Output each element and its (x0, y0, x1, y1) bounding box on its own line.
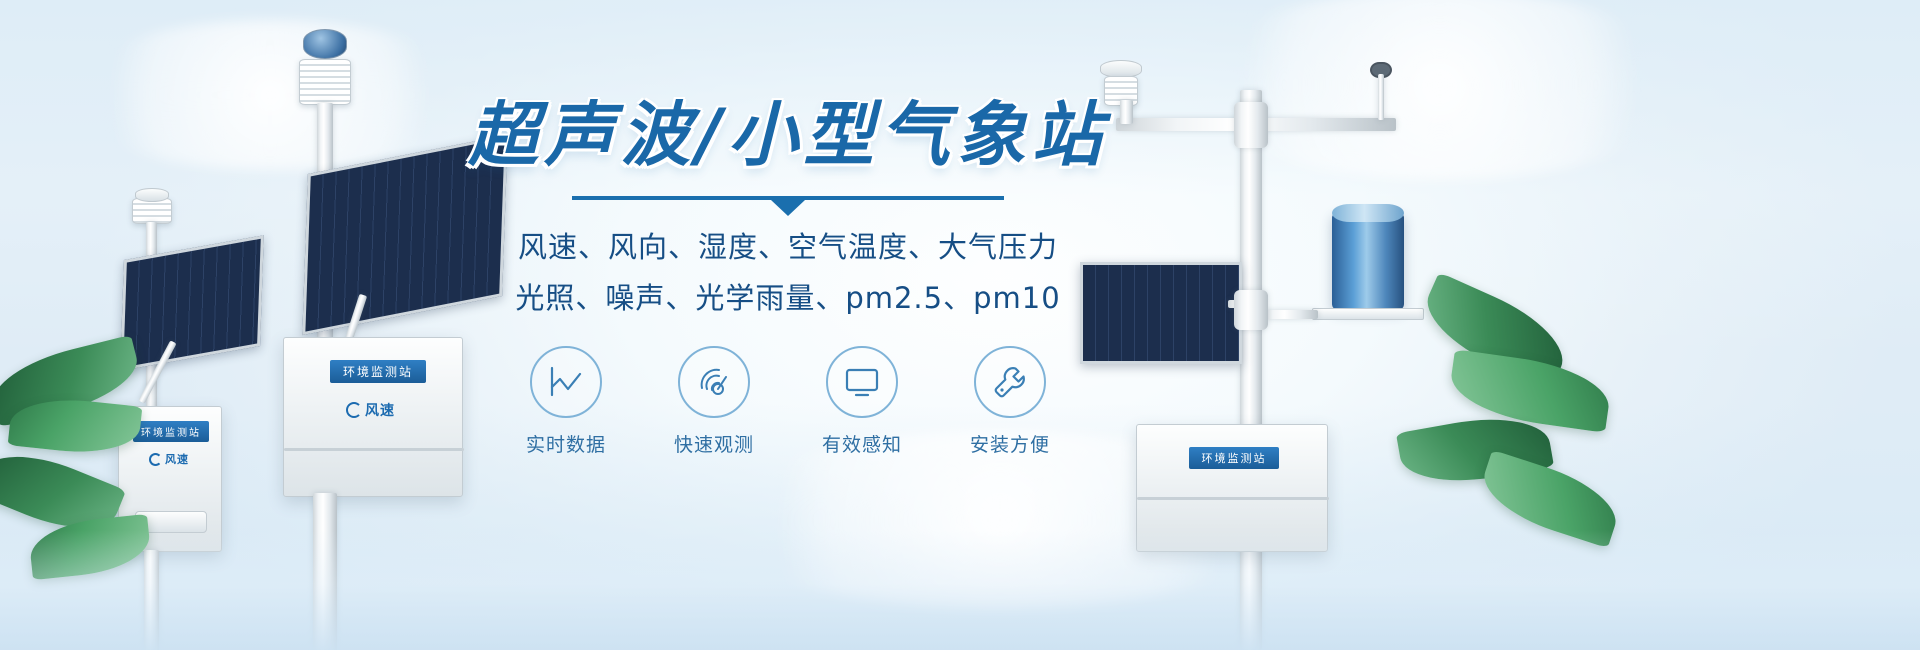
solar-panel (120, 235, 264, 371)
feature-label: 安装方便 (958, 430, 1062, 457)
sensor-disc-icon (135, 188, 169, 202)
rain-gauge-bracket (1260, 310, 1318, 319)
feature-item-fast-observation[interactable]: 快速观测 (662, 346, 766, 457)
brand-logo-left: 风速 (149, 451, 189, 467)
feature-label: 实时数据 (514, 430, 618, 457)
down-triangle-icon (771, 200, 805, 216)
monitor-screen-icon (843, 366, 881, 398)
enclosure-cabinet-mid: 环境监测站 风速 (283, 337, 463, 497)
banner-stage: 环境监测站 风速 环境监测站 风速 (0, 0, 1920, 650)
station-label-mid: 环境监测站 (330, 360, 426, 383)
mast-pole-right (1240, 90, 1262, 650)
feature-circle (678, 346, 750, 418)
feature-label: 快速观测 (662, 430, 766, 457)
feature-item-realtime-data[interactable]: 实时数据 (514, 346, 618, 457)
brand-ring-icon (346, 402, 362, 418)
feature-item-effective-sensing[interactable]: 有效感知 (810, 346, 914, 457)
base-pole-mid (313, 493, 337, 650)
station-label-left: 环境监测站 (133, 421, 209, 442)
rain-gauge-shelf (1312, 308, 1424, 320)
mast-collar-upper (1234, 102, 1268, 148)
line-chart-icon (547, 365, 585, 399)
enclosure-cabinet-right: 环境监测站 (1136, 424, 1328, 552)
page-title: 超声波/小型气象站 (448, 96, 1128, 174)
ultrasonic-sensor-dome (303, 29, 347, 59)
radiation-shield-mid-icon (299, 59, 351, 105)
station-label-right: 环境监测站 (1189, 447, 1279, 469)
brand-text-mid: 风速 (365, 400, 395, 420)
subtitle-line-1: 风速、风向、湿度、空气温度、大气压力 (448, 224, 1128, 271)
brand-text-left: 风速 (165, 451, 189, 467)
title-divider (572, 196, 1004, 200)
base-pole-left (144, 550, 159, 650)
cabinet-door-seam-right (1137, 497, 1329, 500)
feature-list: 实时数据 快速观测 (448, 346, 1128, 457)
feature-circle (974, 346, 1046, 418)
rain-gauge-bucket (1332, 212, 1404, 310)
banner-copy: 超声波/小型气象站 风速、风向、湿度、空气温度、大气压力 光照、噪声、光学雨量、… (448, 96, 1128, 457)
brand-logo-mid: 风速 (346, 400, 395, 420)
feature-label: 有效感知 (810, 430, 914, 457)
feature-circle (826, 346, 898, 418)
feature-item-easy-install[interactable]: 安装方便 (958, 346, 1062, 457)
feature-circle (530, 346, 602, 418)
cabinet-door-seam (284, 448, 464, 451)
anemometer-stem (1378, 74, 1384, 120)
wrench-tool-icon (991, 363, 1029, 401)
radar-signal-icon (695, 364, 733, 400)
rain-gauge-rim (1332, 204, 1404, 222)
mast-collar-lower (1234, 290, 1268, 330)
brand-ring-icon (149, 453, 162, 466)
subtitle-line-2: 光照、噪声、光学雨量、pm2.5、pm10 (448, 275, 1128, 322)
